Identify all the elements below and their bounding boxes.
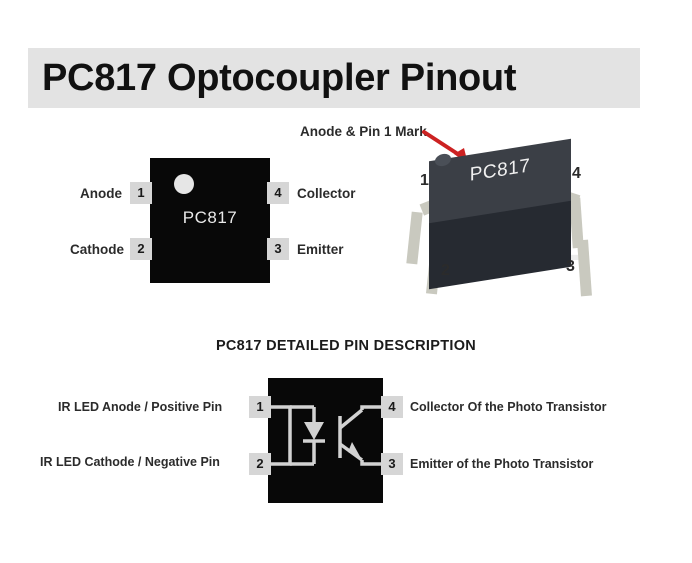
pin-1-marker-dot — [174, 174, 194, 194]
transistor-collector-lead — [340, 410, 362, 428]
photo-pin-number-3: 3 — [566, 258, 575, 276]
photo-pin-number-4: 4 — [572, 165, 581, 183]
pin-chip-1: 1 — [130, 182, 152, 204]
dip-part-number: PC817 — [150, 208, 270, 228]
schematic-box — [268, 378, 383, 503]
detail-pin-chip-1: 1 — [249, 396, 271, 418]
transistor-collector-wire — [362, 407, 383, 410]
pin-chip-2: 2 — [130, 238, 152, 260]
detail-pin-label-4: Collector Of the Photo Transistor — [410, 400, 607, 414]
detail-pin-label-1: IR LED Anode / Positive Pin — [58, 400, 222, 414]
pin-chip-3: 3 — [267, 238, 289, 260]
led-outer-wire — [268, 407, 290, 464]
detail-pin-label-3: Emitter of the Photo Transistor — [410, 457, 593, 471]
detail-pin-chip-2: 2 — [249, 453, 271, 475]
photo-pin-number-1: 1 — [420, 172, 429, 190]
detail-pin-label-2: IR LED Cathode / Negative Pin — [40, 455, 220, 469]
detail-pin-chip-4: 4 — [381, 396, 403, 418]
transistor-emitter-wire — [362, 460, 383, 464]
dip-package-diagram: PC817 — [150, 158, 270, 283]
photo-annotation-label: Anode & Pin 1 Mark — [300, 124, 427, 139]
detail-pin-chip-3: 3 — [381, 453, 403, 475]
pin-label-anode: Anode — [80, 186, 122, 201]
section-heading: PC817 DETAILED PIN DESCRIPTION — [0, 338, 692, 354]
transistor-emitter-arrow — [348, 442, 362, 460]
pin-label-cathode: Cathode — [70, 242, 124, 257]
package-photo: DAAL PC817 — [393, 140, 628, 300]
pin-chip-4: 4 — [267, 182, 289, 204]
ir-led-diode-symbol — [304, 422, 324, 440]
optocoupler-schematic — [268, 378, 383, 503]
pin-label-emitter: Emitter — [297, 242, 344, 257]
pin-label-collector: Collector — [297, 186, 356, 201]
page-title: PC817 Optocoupler Pinout — [42, 49, 632, 107]
photo-pin-number-2: 2 — [441, 262, 450, 280]
